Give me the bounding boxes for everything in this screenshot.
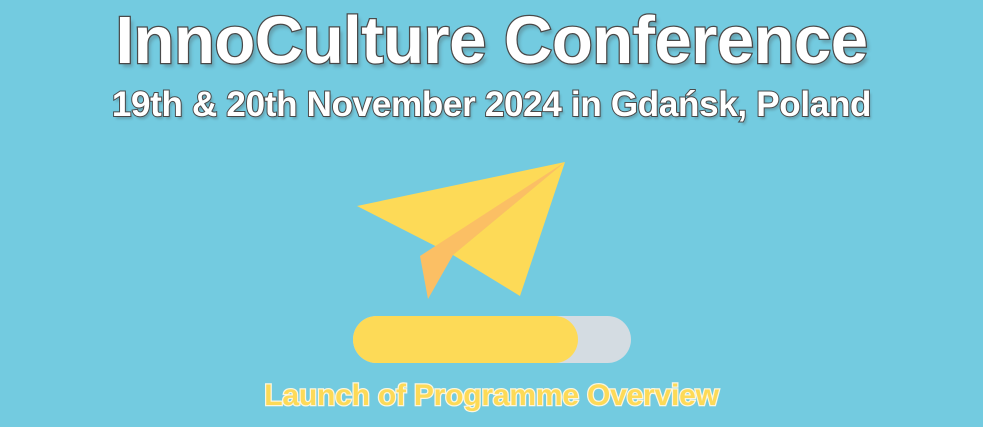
progress-bar-fill: [353, 316, 578, 363]
event-dateline: 19th & 20th November 2024 in Gdańsk, Pol…: [0, 87, 983, 122]
page-title: InnoCulture Conference: [0, 7, 983, 74]
progress-bar[interactable]: [353, 316, 631, 363]
paper-plane-icon: [340, 150, 580, 305]
conference-announcement-banner: InnoCulture Conference 19th & 20th Novem…: [0, 0, 983, 427]
launch-caption: Launch of Programme Overview: [0, 381, 983, 411]
